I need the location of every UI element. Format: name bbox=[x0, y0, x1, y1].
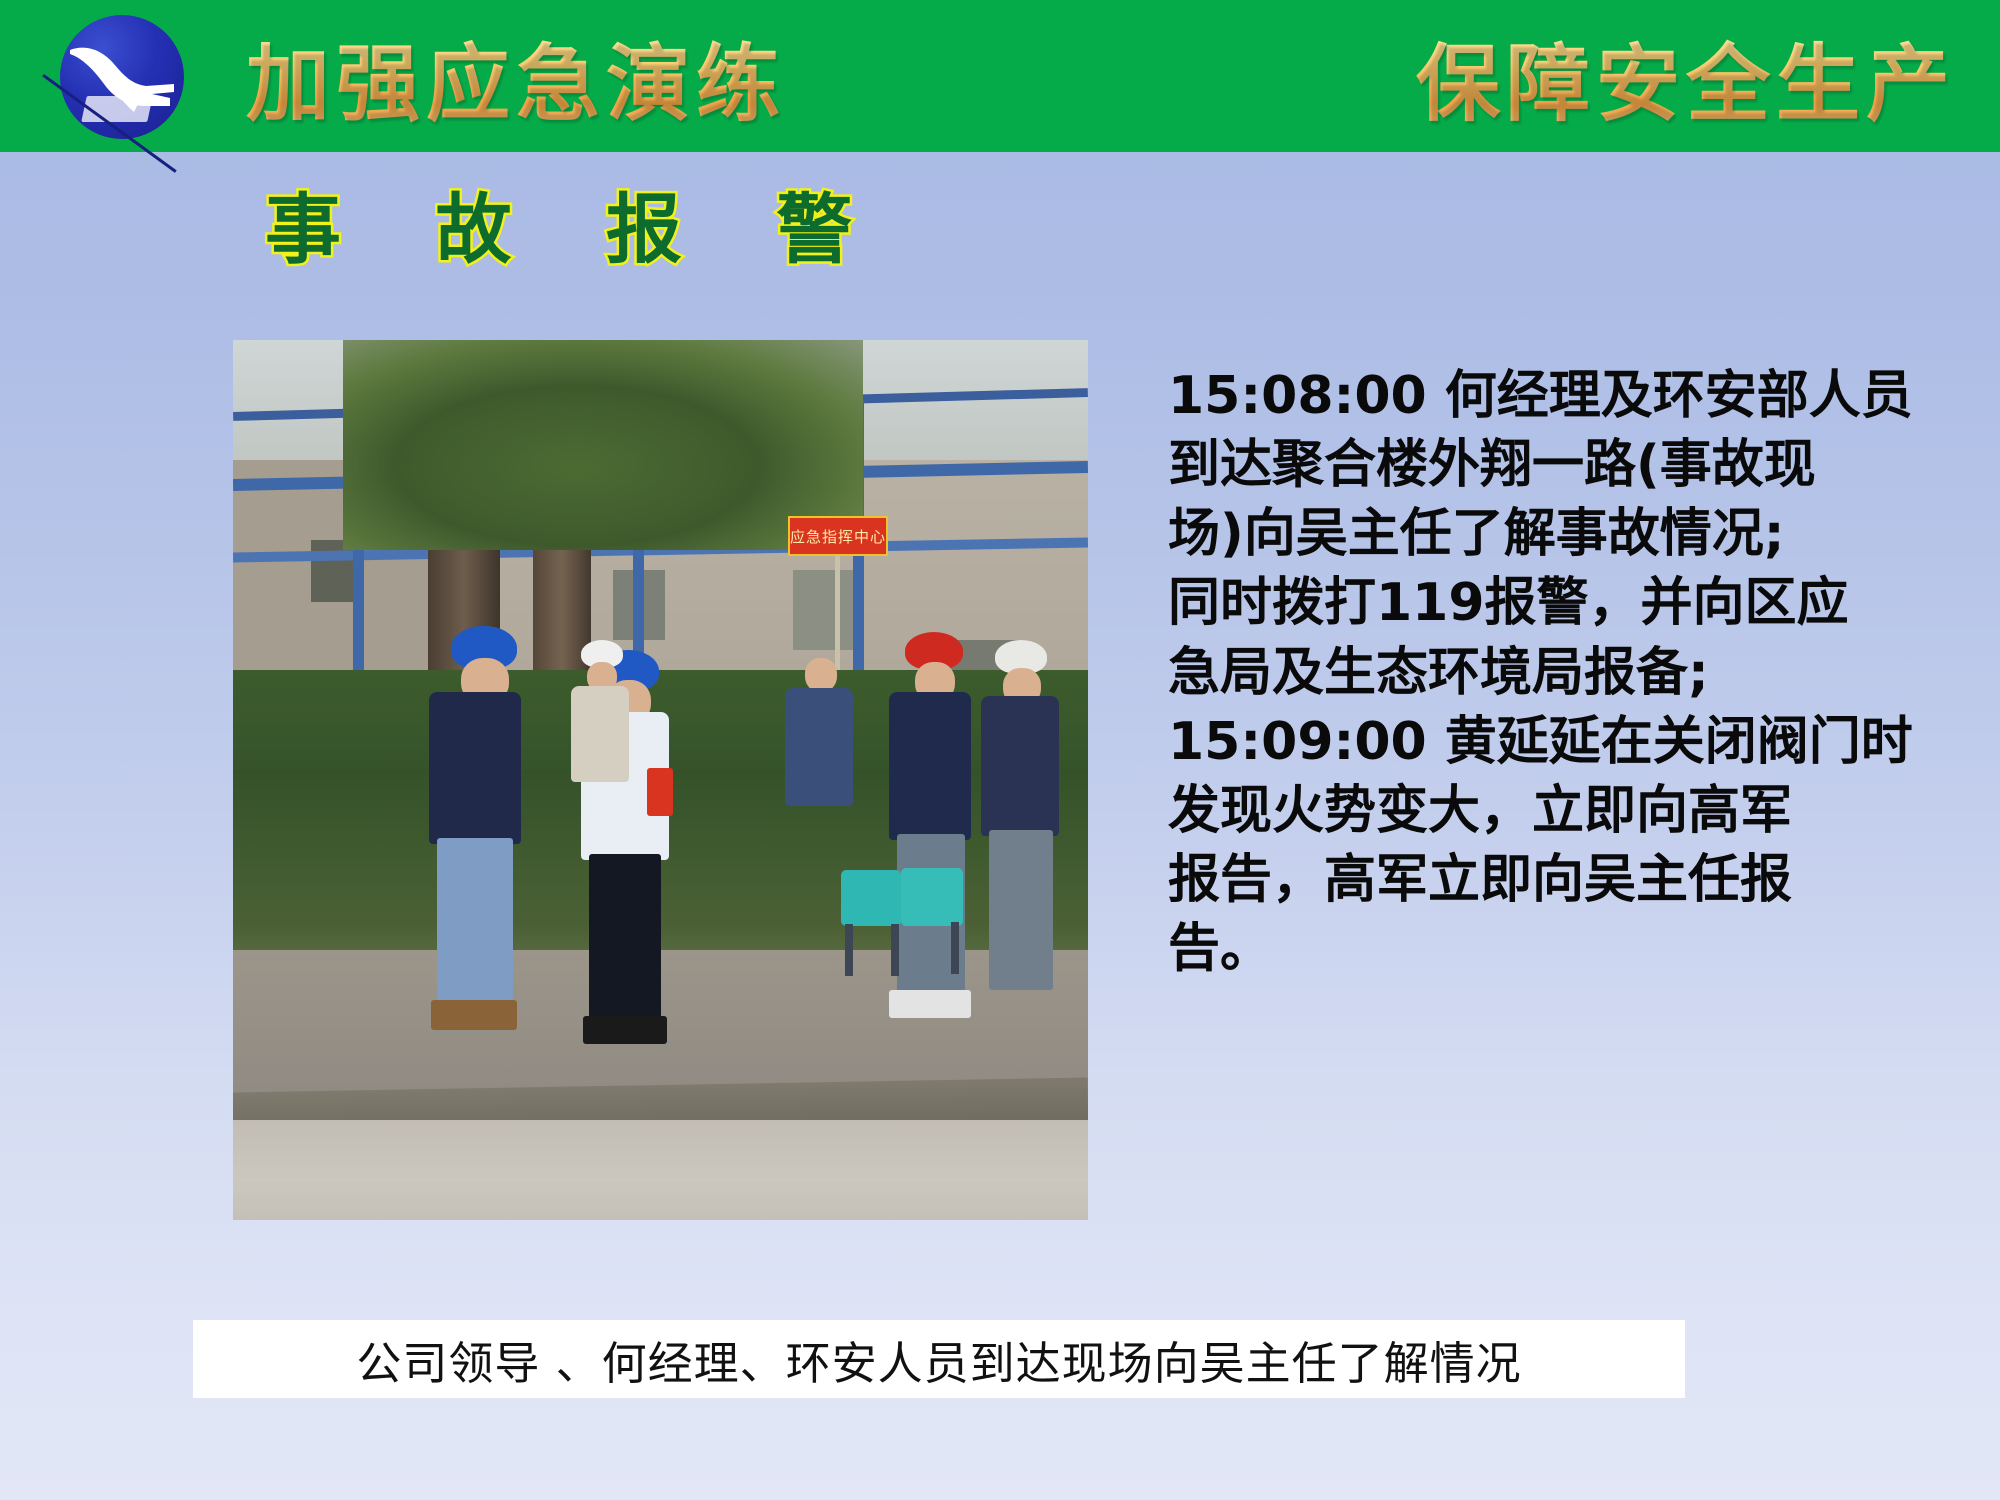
report-line: 发现火势变大，立即向高军 bbox=[1168, 777, 1958, 846]
header-phrase-1: 加强应急演练 bbox=[246, 17, 786, 138]
company-logo bbox=[48, 12, 196, 142]
report-line: 场)向吴主任了解事故情况; bbox=[1168, 500, 1958, 569]
header-phrase-2: 保障安全生产 bbox=[1416, 17, 1956, 138]
slide-canvas: 加强应急演练 保障安全生产 事 故 报 警 应急指挥中心 bbox=[0, 0, 2000, 1500]
report-line: 急局及生态环境局报备; bbox=[1168, 639, 1958, 708]
photo-caption-text: 公司领导 、何经理、环安人员到达现场向吴主任了解情况 bbox=[356, 1327, 1521, 1392]
header-banner: 加强应急演练 保障安全生产 bbox=[0, 0, 2000, 152]
report-line: 15:08:00 何经理及环安部人员 bbox=[1168, 362, 1958, 431]
report-line: 到达聚合楼外翔一路(事故现 bbox=[1168, 431, 1958, 500]
photo-caption-bar: 公司领导 、何经理、环安人员到达现场向吴主任了解情况 bbox=[193, 1320, 1685, 1398]
report-line: 同时拨打119报警，并向区应 bbox=[1168, 569, 1958, 638]
header-slogan: 加强应急演练 保障安全生产 bbox=[246, 24, 1976, 130]
incident-report-text: 15:08:00 何经理及环安部人员 到达聚合楼外翔一路(事故现 场)向吴主任了… bbox=[1168, 362, 1958, 984]
emergency-command-center-sign: 应急指挥中心 bbox=[788, 516, 888, 556]
report-line: 告。 bbox=[1168, 915, 1958, 984]
report-line: 报告，高军立即向吴主任报 bbox=[1168, 846, 1958, 915]
report-line: 15:09:00 黄延延在关闭阀门时 bbox=[1168, 708, 1958, 777]
sign-label: 应急指挥中心 bbox=[790, 526, 886, 547]
page-title: 事 故 报 警 bbox=[265, 168, 886, 278]
emergency-drill-site-photo: 应急指挥中心 bbox=[233, 340, 1088, 1220]
